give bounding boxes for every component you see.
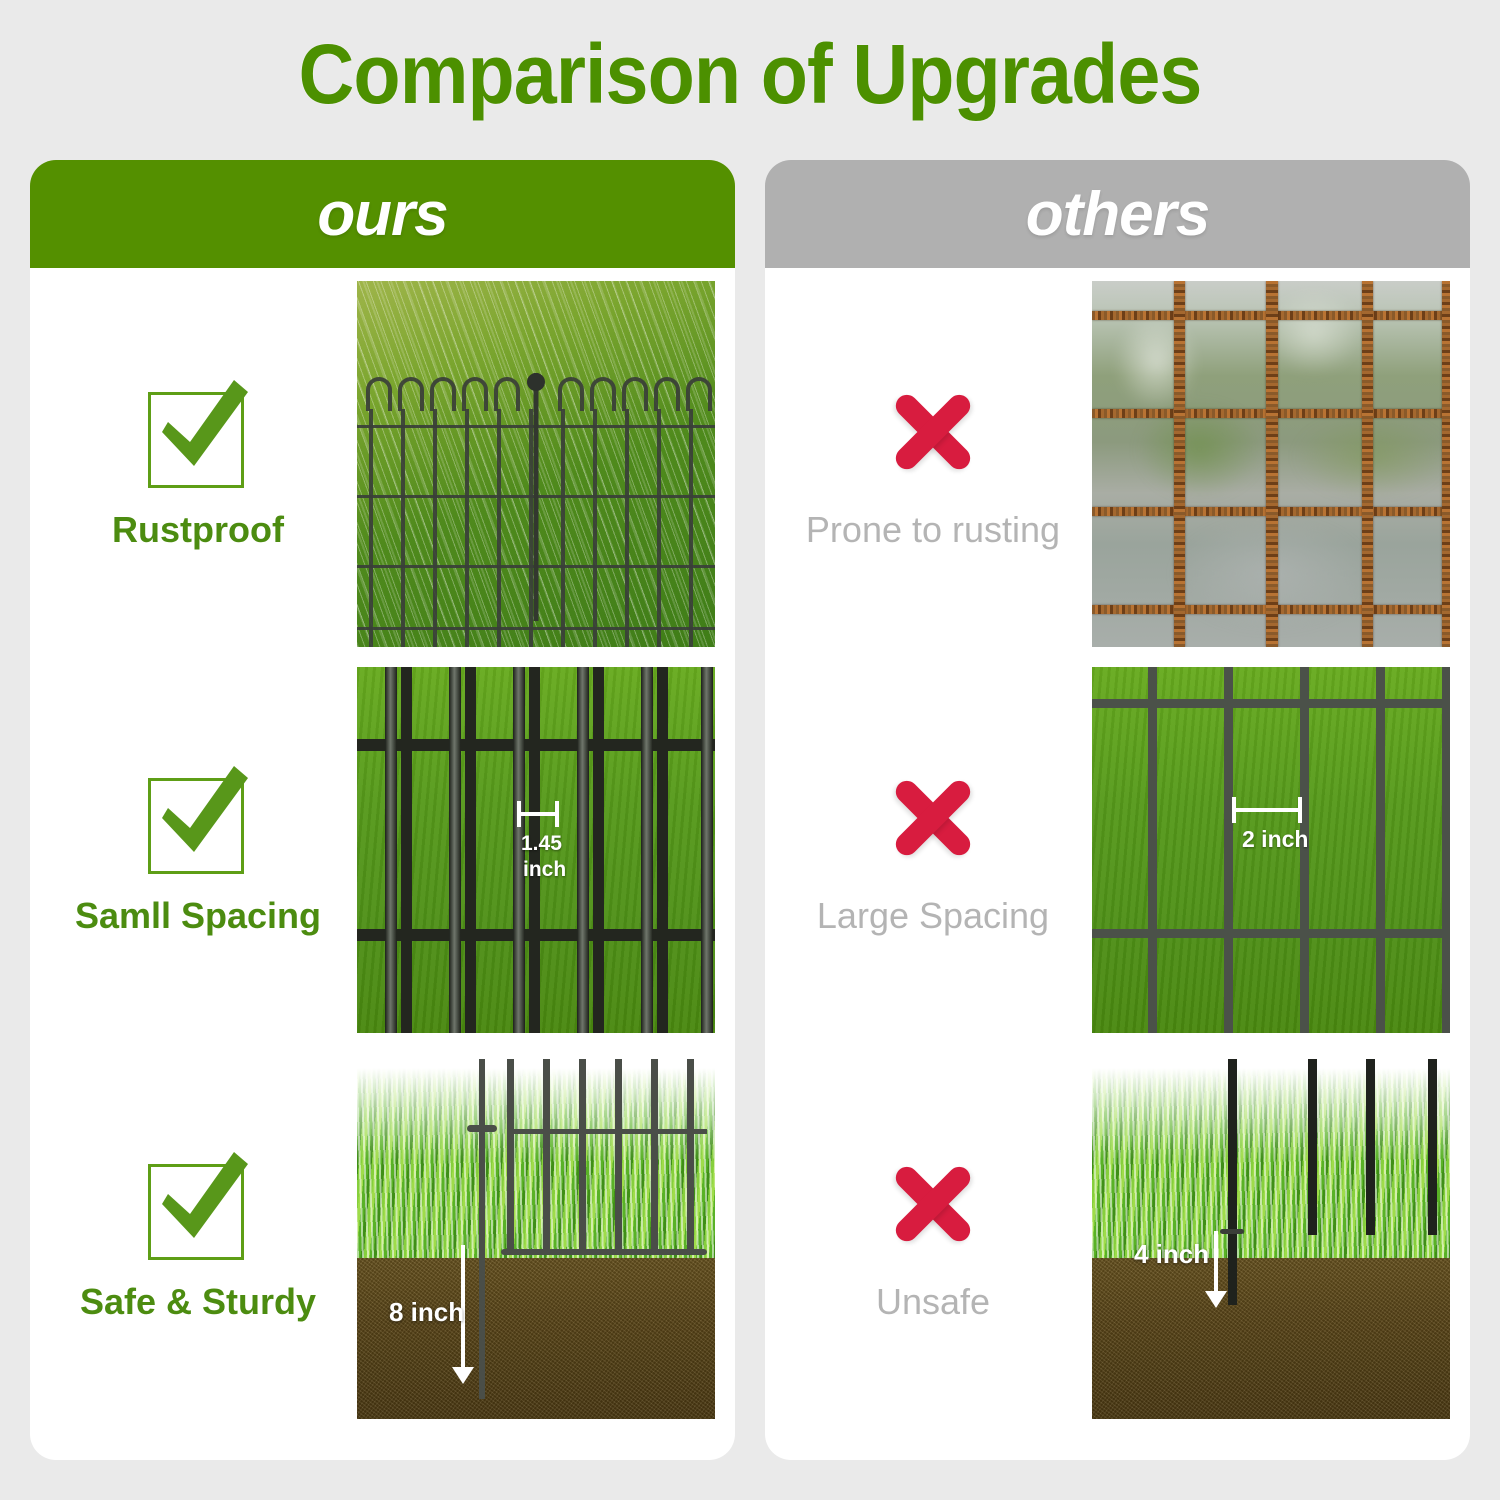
dimension-bar (1232, 797, 1302, 823)
others-header-label: others (1026, 179, 1209, 250)
others-row-unsafe: Unsafe 4 inch (765, 1048, 1470, 1422)
ours-image-depth: 8 inch (357, 1053, 715, 1419)
others-depth-value: 4 inch (1134, 1239, 1209, 1270)
others-panel-header: others (765, 160, 1470, 268)
others-label-unsafe: Unsafe (876, 1282, 990, 1322)
page-title: Comparison of Upgrades (60, 26, 1440, 123)
others-dimension-value: 2 inch (1242, 827, 1308, 852)
ours-row-spacing: Samll Spacing 1.45 inch (30, 662, 735, 1036)
ours-label-rustproof: Rustproof (112, 510, 284, 550)
dimension-bar (517, 801, 559, 827)
ours-dimension-unit: inch (523, 859, 566, 882)
fence-post (534, 373, 539, 621)
ours-feature-rustproof: Rustproof (48, 276, 348, 650)
ours-row-rust: Rustproof (30, 276, 735, 650)
x-icon (877, 762, 989, 874)
x-icon (877, 1148, 989, 1260)
x-icon (877, 376, 989, 488)
check-icon (142, 376, 254, 488)
post-finial-icon (527, 373, 545, 391)
others-label-rust: Prone to rusting (806, 510, 1060, 550)
ours-header-label: ours (317, 179, 447, 250)
others-panel-body: Prone to rusting Large Spacing (765, 268, 1470, 1460)
others-label-spacing: Large Spacing (817, 896, 1049, 936)
ours-feature-sturdy: Safe & Sturdy (48, 1048, 348, 1422)
ours-panel-header: ours (30, 160, 735, 268)
others-image-rust (1092, 281, 1450, 647)
ours-image-rustproof (357, 281, 715, 647)
others-image-spacing: 2 inch (1092, 667, 1450, 1033)
ours-depth-value: 8 inch (389, 1297, 464, 1328)
check-icon (142, 1148, 254, 1260)
ours-row-sturdy: Safe & Sturdy 8 inch (30, 1048, 735, 1422)
others-row-rust: Prone to rusting (765, 276, 1470, 650)
others-feature-rust: Prone to rusting (783, 276, 1083, 650)
others-image-depth: 4 inch (1092, 1053, 1450, 1419)
ours-label-sturdy: Safe & Sturdy (80, 1282, 316, 1322)
ours-image-spacing: 1.45 inch (357, 667, 715, 1033)
ours-dimension-value: 1.45 (521, 833, 562, 856)
ours-feature-spacing: Samll Spacing (48, 662, 348, 1036)
others-feature-unsafe: Unsafe (783, 1048, 1083, 1422)
depth-arrow-icon (1214, 1231, 1218, 1293)
others-feature-spacing: Large Spacing (783, 662, 1083, 1036)
others-panel: others Prone to rusting (765, 160, 1470, 1460)
others-row-spacing: Large Spacing 2 inch (765, 662, 1470, 1036)
ours-label-spacing: Samll Spacing (75, 896, 321, 936)
ours-panel: ours Rustproof (30, 160, 735, 1460)
ours-panel-body: Rustproof (30, 268, 735, 1460)
check-icon (142, 762, 254, 874)
